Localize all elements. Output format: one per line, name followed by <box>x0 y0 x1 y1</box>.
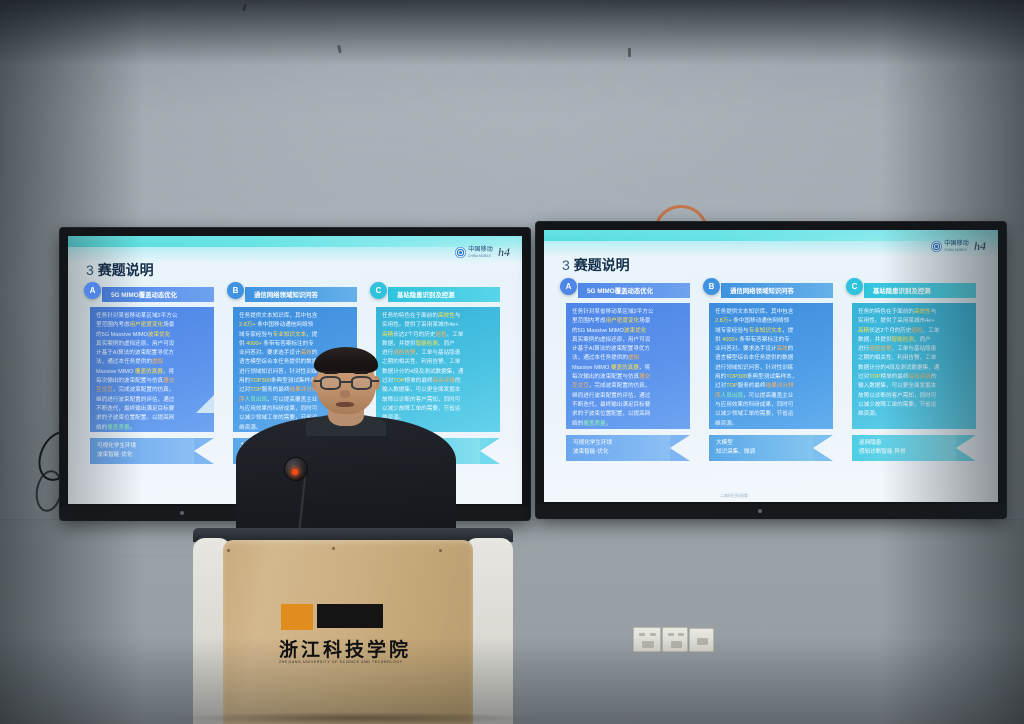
conference-room-photo: 3 赛题说明 中国移动 CHINA MOBILE h4 A 5G MIMO覆盖动… <box>0 0 1024 724</box>
column-b-badge: B <box>227 282 244 299</box>
photo-vignette <box>0 0 1024 724</box>
column-a-badge: A <box>84 282 101 299</box>
column-c-badge: C <box>370 282 387 299</box>
column-a-badge: A <box>560 278 577 295</box>
column-c-badge: C <box>846 278 863 295</box>
column-b-badge: B <box>703 278 720 295</box>
